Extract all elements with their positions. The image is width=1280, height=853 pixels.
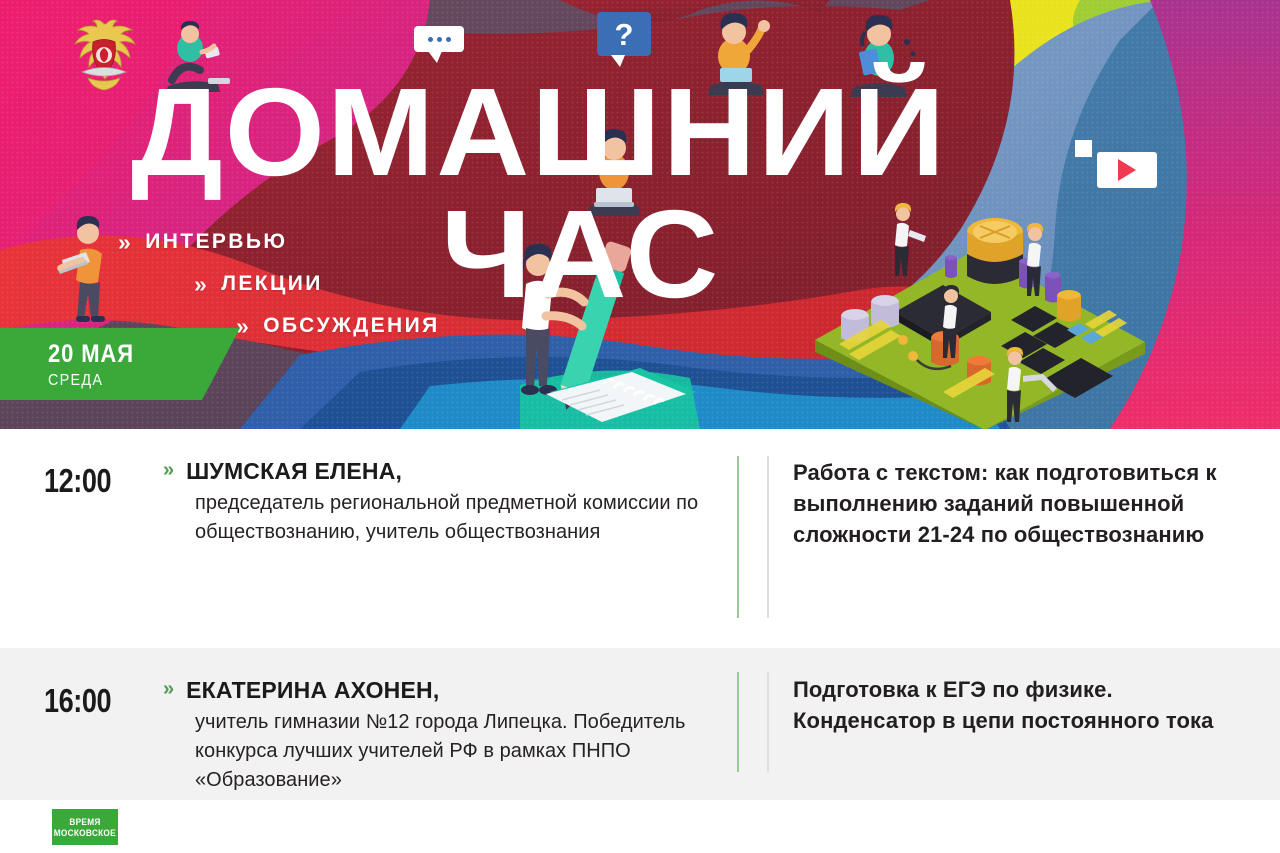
play-icon[interactable] — [1097, 152, 1157, 188]
illustration-person-waving — [690, 10, 782, 105]
speaker-description: председатель региональной предметной ком… — [195, 489, 703, 547]
schedule-speaker: » ШУМСКАЯ ЕЛЕНА, председатель региональн… — [163, 457, 703, 547]
russian-federation-emblem — [62, 14, 146, 100]
row-divider-green — [737, 672, 739, 772]
poster: ? ДОМАШНИЙ ЧАС » ИНТЕРВЬЮ » ЛЕКЦИИ » ОБС… — [0, 0, 1280, 853]
format-item-label: ЛЕКЦИИ — [221, 267, 323, 301]
row-divider-gray — [767, 672, 769, 772]
schedule-speaker: » ЕКАТЕРИНА АХОНЕН, учитель гимназии №12… — [163, 676, 703, 795]
chevron-right-icon: » — [236, 315, 251, 338]
date-badge-weekday: СРЕДА — [48, 372, 103, 390]
question-mark-label: ? — [615, 19, 634, 50]
format-item-label: ОБСУЖДЕНИЯ — [263, 309, 439, 343]
schedule-list: 12:00 » ШУМСКАЯ ЕЛЕНА, председатель реги… — [0, 429, 1280, 853]
illustration-person-reading-left — [150, 18, 240, 100]
chevron-right-icon: » — [194, 273, 209, 296]
date-badge-date: 20 МАЯ — [48, 340, 134, 369]
typing-dots-icon — [414, 26, 464, 52]
header-banner: ? ДОМАШНИЙ ЧАС » ИНТЕРВЬЮ » ЛЕКЦИИ » ОБС… — [0, 0, 1280, 429]
format-item-lectures: » ЛЕКЦИИ — [194, 267, 440, 301]
question-bubble-icon: ? — [597, 12, 651, 56]
format-item-discussions: » ОБСУЖДЕНИЯ — [236, 309, 440, 343]
row-divider-gray — [767, 456, 769, 618]
schedule-time: 16:00 — [44, 684, 111, 717]
schedule-time: 12:00 — [44, 464, 111, 497]
illustration-isometric-circuit-board — [795, 180, 1165, 429]
format-item-label: ИНТЕРВЬЮ — [145, 225, 287, 259]
speaker-name: ШУМСКАЯ ЕЛЕНА, — [186, 457, 402, 485]
illustration-person-headphones-tablet — [835, 12, 925, 108]
timezone-badge-line-2: МОСКОВСКОЕ — [54, 828, 116, 839]
row-divider-green — [737, 456, 739, 618]
schedule-topic: Работа с текстом: как подготовиться к вы… — [793, 457, 1243, 550]
chevron-right-icon: » — [118, 231, 133, 254]
chevron-right-icon: » — [163, 676, 174, 702]
speaker-name: ЕКАТЕРИНА АХОНЕН, — [186, 676, 439, 704]
illustration-person-sitting-laptop-center — [570, 120, 656, 230]
chevron-right-icon: » — [163, 457, 174, 483]
timezone-badge-line-1: ВРЕМЯ — [69, 817, 100, 828]
illustration-girl-with-pencil-notebook — [500, 232, 700, 422]
schedule-row: 12:00 » ШУМСКАЯ ЕЛЕНА, председатель реги… — [0, 429, 1280, 648]
schedule-row: 16:00 » ЕКАТЕРИНА АХОНЕН, учитель гимназ… — [0, 648, 1280, 800]
speaker-description: учитель гимназии №12 города Липецка. Поб… — [195, 708, 703, 795]
timezone-badge: ВРЕМЯ МОСКОВСКОЕ — [52, 809, 118, 845]
date-badge: 20 МАЯ СРЕДА — [0, 328, 240, 400]
schedule-topic: Подготовка к ЕГЭ по физике. Конденсатор … — [793, 674, 1243, 736]
format-item-interviews: » ИНТЕРВЬЮ — [118, 225, 440, 259]
play-triangle — [1118, 159, 1136, 181]
